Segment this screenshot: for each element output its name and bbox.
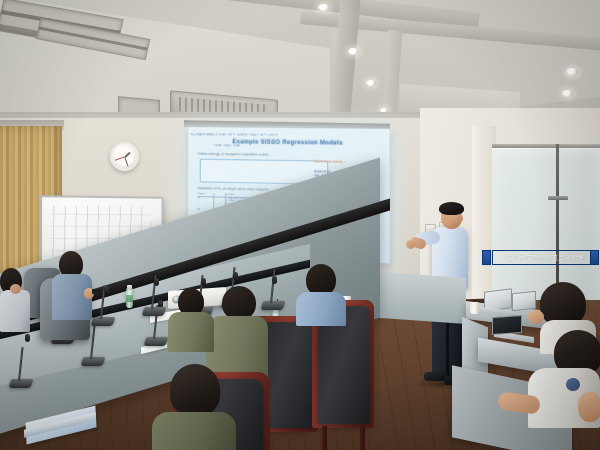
- bottle-cap: [127, 285, 132, 289]
- paper-cup: [470, 302, 479, 314]
- microphone-base: [9, 379, 34, 388]
- microphone-head-icon: [25, 334, 30, 342]
- attendee-shirt: [0, 290, 30, 332]
- attendee-face: [10, 284, 21, 294]
- banner-text: 结构力学及控制重点实验室: [505, 253, 584, 262]
- attendee-shirt: [152, 412, 236, 450]
- table-header-cell: Objects: [198, 193, 213, 195]
- microphone-stem: [18, 347, 23, 381]
- conference-room-photo: Example SISSO Regression Models Gibbs en…: [0, 0, 600, 450]
- attendee-shirt: [296, 292, 346, 326]
- shirt-logo: [566, 378, 580, 391]
- slide-formula-line-1: G₀ᵢ₀(T)[eV/atom] = (−0.46 × 10⁻⁴ · ΔvS(T…: [191, 132, 277, 137]
- attendee-hand: [528, 310, 544, 324]
- chair-leg: [322, 426, 327, 450]
- downlight-icon: [566, 68, 578, 76]
- gooseneck-microphone[interactable]: [262, 276, 280, 310]
- downlight-icon: [562, 90, 573, 97]
- clock-face: [115, 147, 134, 166]
- attendee-head: [578, 392, 600, 422]
- slide-annotation-1: Dimensionally…: [314, 158, 347, 164]
- glass-door-handle[interactable]: [548, 196, 568, 200]
- downlight-icon: [318, 4, 330, 11]
- gooseneck-microphone[interactable]: [143, 278, 162, 316]
- presenter-ear: [458, 215, 463, 222]
- slide-formula-line-2: + 0.06 · ln(T) − 0.86: [213, 143, 240, 147]
- smartphone[interactable]: [92, 289, 101, 294]
- laptop-screen[interactable]: [492, 315, 522, 335]
- slide-subtitle-1: Gibbs energy of inorganic crystalline so…: [198, 152, 269, 157]
- microphone-base: [142, 307, 167, 316]
- chair-leg: [360, 426, 365, 450]
- water-bottle: [126, 288, 133, 308]
- table-header-cell: n: [213, 193, 225, 195]
- presenter-hair: [439, 202, 464, 215]
- microphone-base: [81, 357, 106, 366]
- microphone-head-icon: [272, 276, 277, 284]
- attendee-shirt: [168, 312, 214, 352]
- bottle-label: [126, 295, 133, 302]
- microphone-head-icon: [154, 278, 159, 286]
- banner-end-cap: [590, 250, 599, 265]
- clock-minute-hand: [124, 156, 129, 166]
- microphone-base: [261, 301, 286, 310]
- presenter-hand: [406, 240, 415, 249]
- slide-subtitle-2: Activation of N₂ on single-atom alloy ca…: [198, 186, 269, 191]
- microphone-base: [144, 337, 169, 346]
- attendee-head: [222, 286, 256, 320]
- microphone-head-icon: [104, 286, 109, 294]
- banner-end-cap: [482, 250, 491, 265]
- downlight-icon: [348, 48, 359, 55]
- downlight-icon: [366, 80, 376, 86]
- clock-second-hand: [115, 156, 125, 160]
- microphone-base: [91, 317, 116, 326]
- gooseneck-microphone[interactable]: [10, 336, 34, 388]
- presenter-leg-seam: [446, 320, 449, 378]
- laptop-screen[interactable]: [512, 291, 536, 312]
- lab-name-banner: 结构力学及控制重点实验室: [492, 250, 598, 265]
- microphone-head-icon: [233, 272, 238, 280]
- microphone-head-icon: [201, 278, 206, 286]
- wall-clock-icon: [110, 142, 139, 171]
- attendee-head: [170, 364, 220, 416]
